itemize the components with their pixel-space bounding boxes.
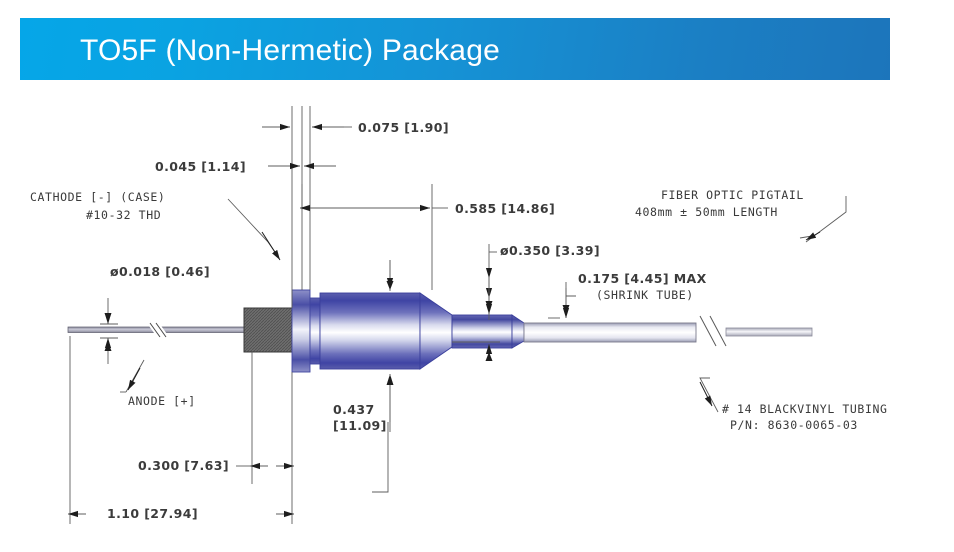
anode-callout-label: ANODE [+] [128,394,196,409]
dim-dia-0-018-label: ø0.018 [0.46] [110,264,210,279]
page-title: TO5F (Non-Hermetic) Package [80,36,500,66]
package-outline-drawing: 0.075 [1.90] 0.045 [1.14] 0.585 [14.86] … [0,92,954,552]
dim-0-585-label: 0.585 [14.86] [455,201,555,216]
dim-0-045-label: 0.045 [1.14] [155,159,246,174]
fiber-pigtail-line2: 408mm ± 50mm LENGTH [635,205,778,220]
dim-0-075-label: 0.075 [1.90] [358,120,449,135]
cathode-callout-line1: CATHODE [-] (CASE) [30,190,165,205]
shrink-tube-note: (SHRINK TUBE) [596,288,694,303]
page-header-banner: TO5F (Non-Hermetic) Package [20,18,890,80]
drawing-vector-canvas [0,92,954,552]
dim-1-10-label: 1.10 [27.94] [107,506,198,521]
fiber-pigtail-line1: FIBER OPTIC PIGTAIL [661,188,804,203]
dim-0-437-mm-label: [11.09] [333,418,387,433]
blackvinyl-tubing-line2: P/N: 8630-0065-03 [730,418,858,433]
cathode-callout-line2: #10-32 THD [86,208,161,223]
dim-dia-0-350-label: ø0.350 [3.39] [500,243,600,258]
blackvinyl-tubing-line1: # 14 BLACKVINYL TUBING [722,402,888,417]
screenshot-root: TO5F (Non-Hermetic) Package [0,0,954,552]
dim-0-437-label: 0.437 [333,402,375,417]
shrink-tube-max-label: 0.175 [4.45] MAX [578,271,707,286]
dim-0-300-label: 0.300 [7.63] [138,458,229,473]
